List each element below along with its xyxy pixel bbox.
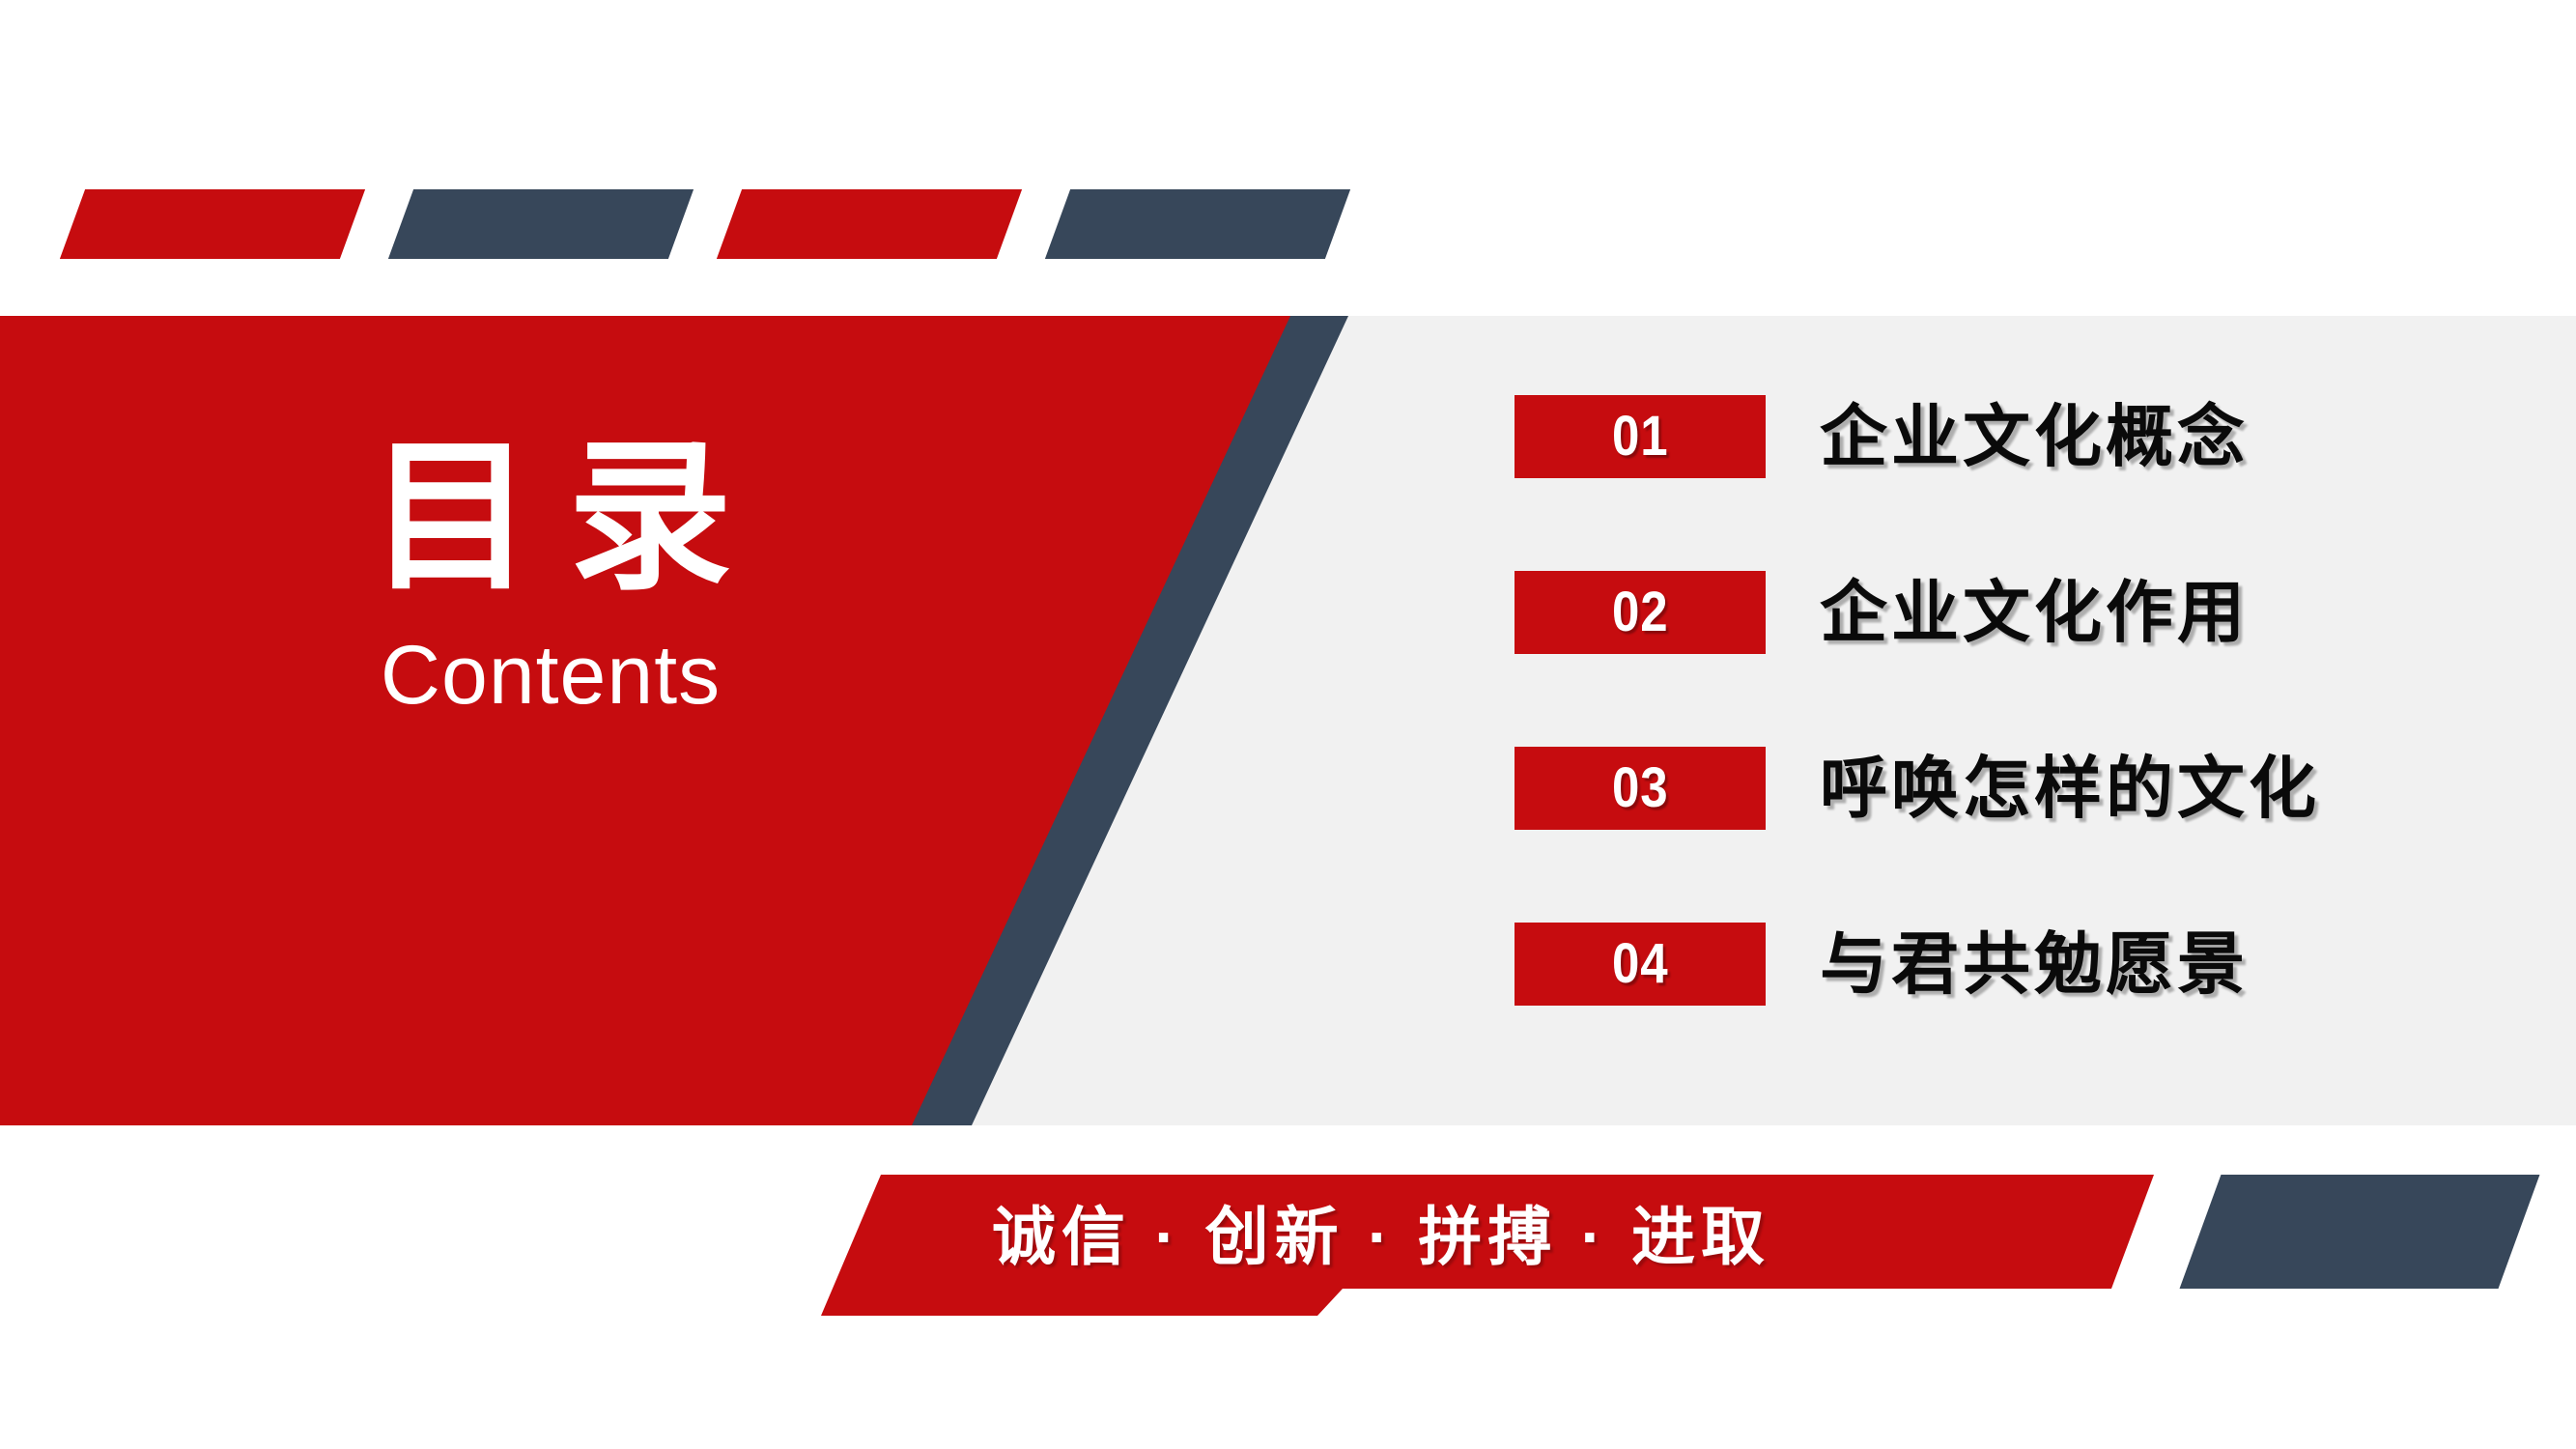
- contents-number-badge: 04: [1514, 923, 1766, 1006]
- top-decor-bars: [0, 189, 1401, 259]
- footer-navy-shape: [2180, 1175, 2540, 1289]
- contents-item-03[interactable]: 03 呼唤怎样的文化: [1514, 747, 2320, 830]
- contents-label: 呼唤怎样的文化: [1820, 754, 2320, 822]
- contents-number: 03: [1612, 760, 1669, 816]
- decor-bar-2: [388, 189, 694, 259]
- slide-canvas: 目录 Contents 01 企业文化概念 02 企业文化作用 03: [0, 0, 2576, 1449]
- page-title: 目录: [164, 432, 937, 605]
- contents-number-badge: 01: [1514, 395, 1766, 478]
- contents-item-02[interactable]: 02 企业文化作用: [1514, 571, 2320, 654]
- contents-number: 01: [1612, 409, 1669, 465]
- footer-slogan: 诚信 · 创新 · 拼搏 · 进取: [821, 1175, 1941, 1289]
- decor-bar-1: [60, 189, 365, 259]
- decor-bar-4: [1045, 189, 1350, 259]
- decor-bar-3: [717, 189, 1022, 259]
- contents-label: 企业文化概念: [1820, 403, 2249, 470]
- title-block: 目录 Contents: [164, 432, 937, 721]
- contents-label: 与君共勉愿景: [1820, 930, 2249, 998]
- content-band: 目录 Contents 01 企业文化概念 02 企业文化作用 03: [0, 316, 2576, 1125]
- contents-list: 01 企业文化概念 02 企业文化作用 03 呼唤怎样的文化 04: [1514, 395, 2320, 1006]
- footer-banner: 诚信 · 创新 · 拼搏 · 进取: [0, 1175, 2576, 1329]
- contents-item-01[interactable]: 01 企业文化概念: [1514, 395, 2320, 478]
- contents-number: 02: [1612, 584, 1669, 640]
- contents-label: 企业文化作用: [1820, 579, 2249, 646]
- contents-number-badge: 03: [1514, 747, 1766, 830]
- contents-number: 04: [1612, 936, 1669, 992]
- page-subtitle: Contents: [164, 630, 937, 722]
- contents-number-badge: 02: [1514, 571, 1766, 654]
- contents-item-04[interactable]: 04 与君共勉愿景: [1514, 923, 2320, 1006]
